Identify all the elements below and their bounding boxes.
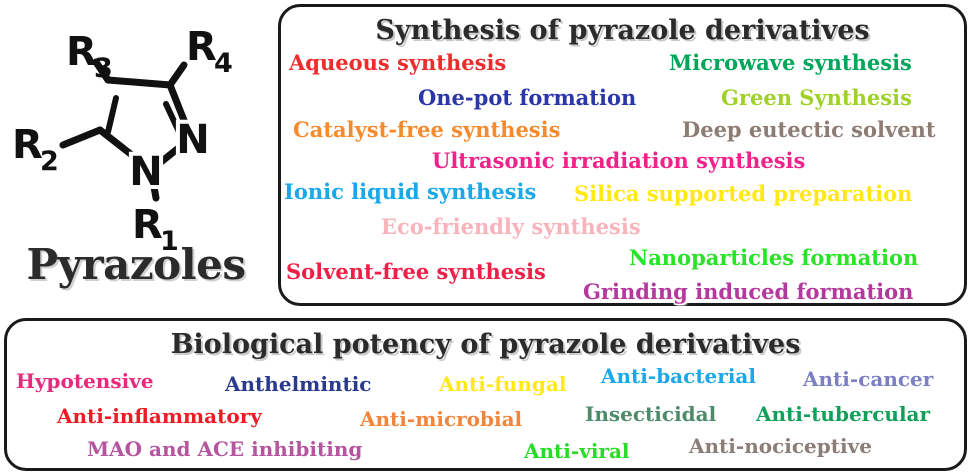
synthesis-term-deep-eutectic-solvent: Deep eutectic solvent bbox=[682, 119, 936, 140]
synthesis-term-grinding-induced-formation: Grinding induced formation bbox=[583, 281, 913, 302]
biology-term-anthelmintic: Anthelmintic bbox=[225, 374, 371, 394]
svg-text:R: R bbox=[66, 29, 97, 75]
synthesis-term-one-pot-formation: One-pot formation bbox=[418, 87, 636, 108]
biology-term-anti-tubercular: Anti-tubercular bbox=[756, 404, 930, 424]
synthesis-term-ultrasonic-irradiation-synthesis: Ultrasonic irradiation synthesis bbox=[432, 150, 805, 171]
biology-term-hypotensive: Hypotensive bbox=[16, 371, 154, 391]
svg-text:R: R bbox=[186, 24, 217, 70]
biology-term-anti-fungal: Anti-fungal bbox=[439, 374, 566, 394]
synthesis-panel: Synthesis of pyrazole derivatives Aqueou… bbox=[278, 4, 967, 306]
ring-atom-n2-label: N bbox=[176, 117, 209, 163]
svg-text:R: R bbox=[12, 122, 43, 168]
biology-panel-title: Biological potency of pyrazole derivativ… bbox=[7, 329, 964, 360]
figure-canvas: N N R3 R4 R2 R1 Pyrazoles Synthesis of p… bbox=[0, 0, 971, 475]
synthesis-term-microwave-synthesis: Microwave synthesis bbox=[669, 52, 912, 73]
biology-term-insecticidal: Insecticidal bbox=[585, 404, 716, 424]
svg-text:4: 4 bbox=[214, 48, 233, 79]
pyrazole-structure-panel: N N R3 R4 R2 R1 Pyrazoles bbox=[0, 0, 272, 310]
substituent-r4-label: R4 bbox=[186, 24, 233, 79]
synthesis-term-aqueous-synthesis: Aqueous synthesis bbox=[289, 52, 506, 73]
ring-atom-n1-label: N bbox=[129, 149, 162, 195]
pyrazole-ring-diagram: N N R3 R4 R2 R1 bbox=[8, 10, 266, 250]
svg-text:3: 3 bbox=[94, 53, 113, 84]
synthesis-term-ionic-liquid-synthesis: Ionic liquid synthesis bbox=[284, 181, 536, 202]
biology-panel: Biological potency of pyrazole derivativ… bbox=[4, 318, 967, 471]
biology-term-anti-cancer: Anti-cancer bbox=[803, 369, 933, 389]
biology-term-anti-microbial: Anti-microbial bbox=[360, 409, 522, 429]
structure-caption: Pyrazoles bbox=[0, 240, 272, 289]
synthesis-term-eco-friendly-synthesis: Eco-friendly synthesis bbox=[381, 216, 641, 237]
biology-term-anti-viral: Anti-viral bbox=[524, 441, 630, 461]
svg-text:2: 2 bbox=[40, 146, 59, 177]
synthesis-term-solvent-free-synthesis: Solvent-free synthesis bbox=[286, 261, 546, 282]
synthesis-term-green-synthesis: Green Synthesis bbox=[721, 87, 912, 108]
biology-term-mao-and-ace-inhibiting: MAO and ACE inhibiting bbox=[87, 439, 362, 459]
synthesis-term-silica-supported-preparation: Silica supported preparation bbox=[574, 183, 912, 204]
synthesis-term-nanoparticles-formation: Nanoparticles formation bbox=[629, 247, 918, 268]
substituent-r2-label: R2 bbox=[12, 122, 59, 177]
synthesis-panel-title: Synthesis of pyrazole derivatives bbox=[281, 15, 964, 46]
biology-term-anti-nociceptive: Anti-nociceptive bbox=[689, 436, 872, 456]
substituent-r3-label: R3 bbox=[66, 29, 113, 84]
biology-term-anti-bacterial: Anti-bacterial bbox=[601, 366, 756, 386]
biology-term-anti-inflammatory: Anti-inflammatory bbox=[57, 406, 262, 426]
synthesis-term-catalyst-free-synthesis: Catalyst-free synthesis bbox=[293, 119, 560, 140]
